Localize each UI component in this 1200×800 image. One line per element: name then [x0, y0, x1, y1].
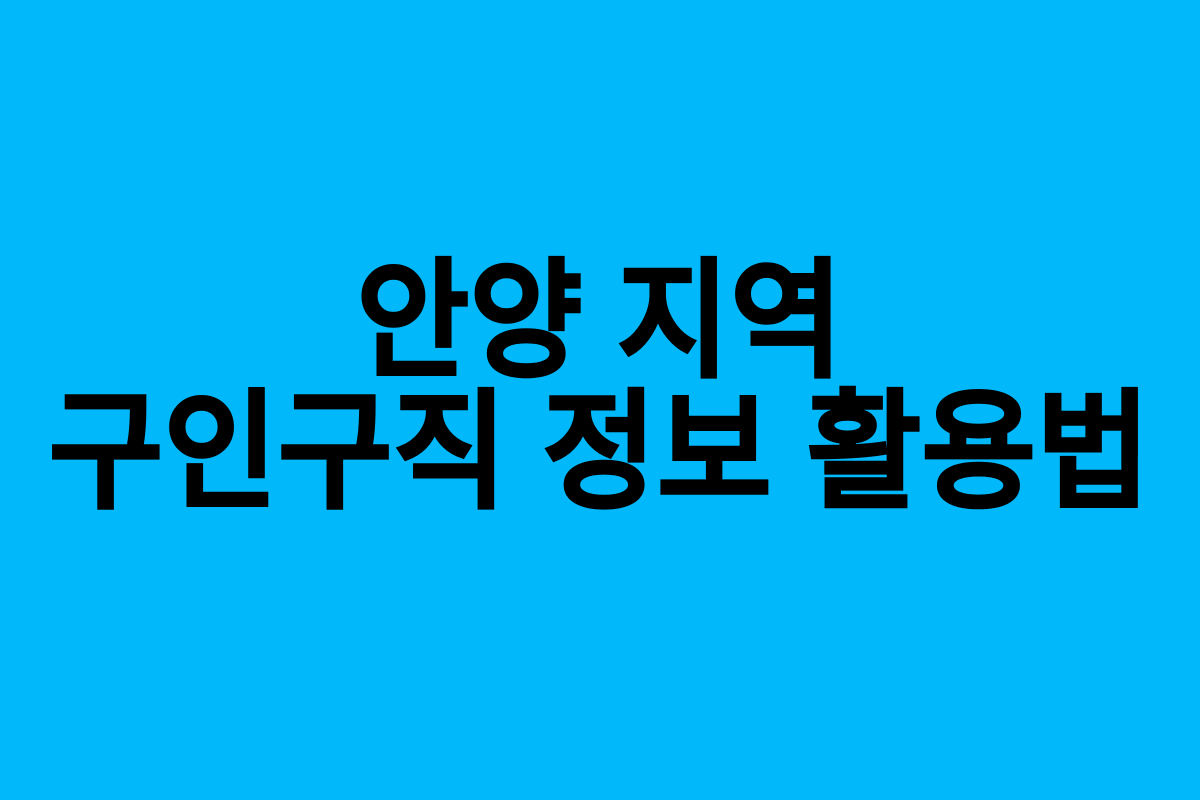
headline-line-2: 구인구직 정보 활용법 — [19, 388, 1181, 519]
headline-block: 안양 지역 구인구직 정보 활용법 — [0, 257, 1200, 518]
headline-line-1: 안양 지역 — [27, 257, 1173, 388]
banner-canvas: 안양 지역 구인구직 정보 활용법 — [0, 0, 1200, 800]
